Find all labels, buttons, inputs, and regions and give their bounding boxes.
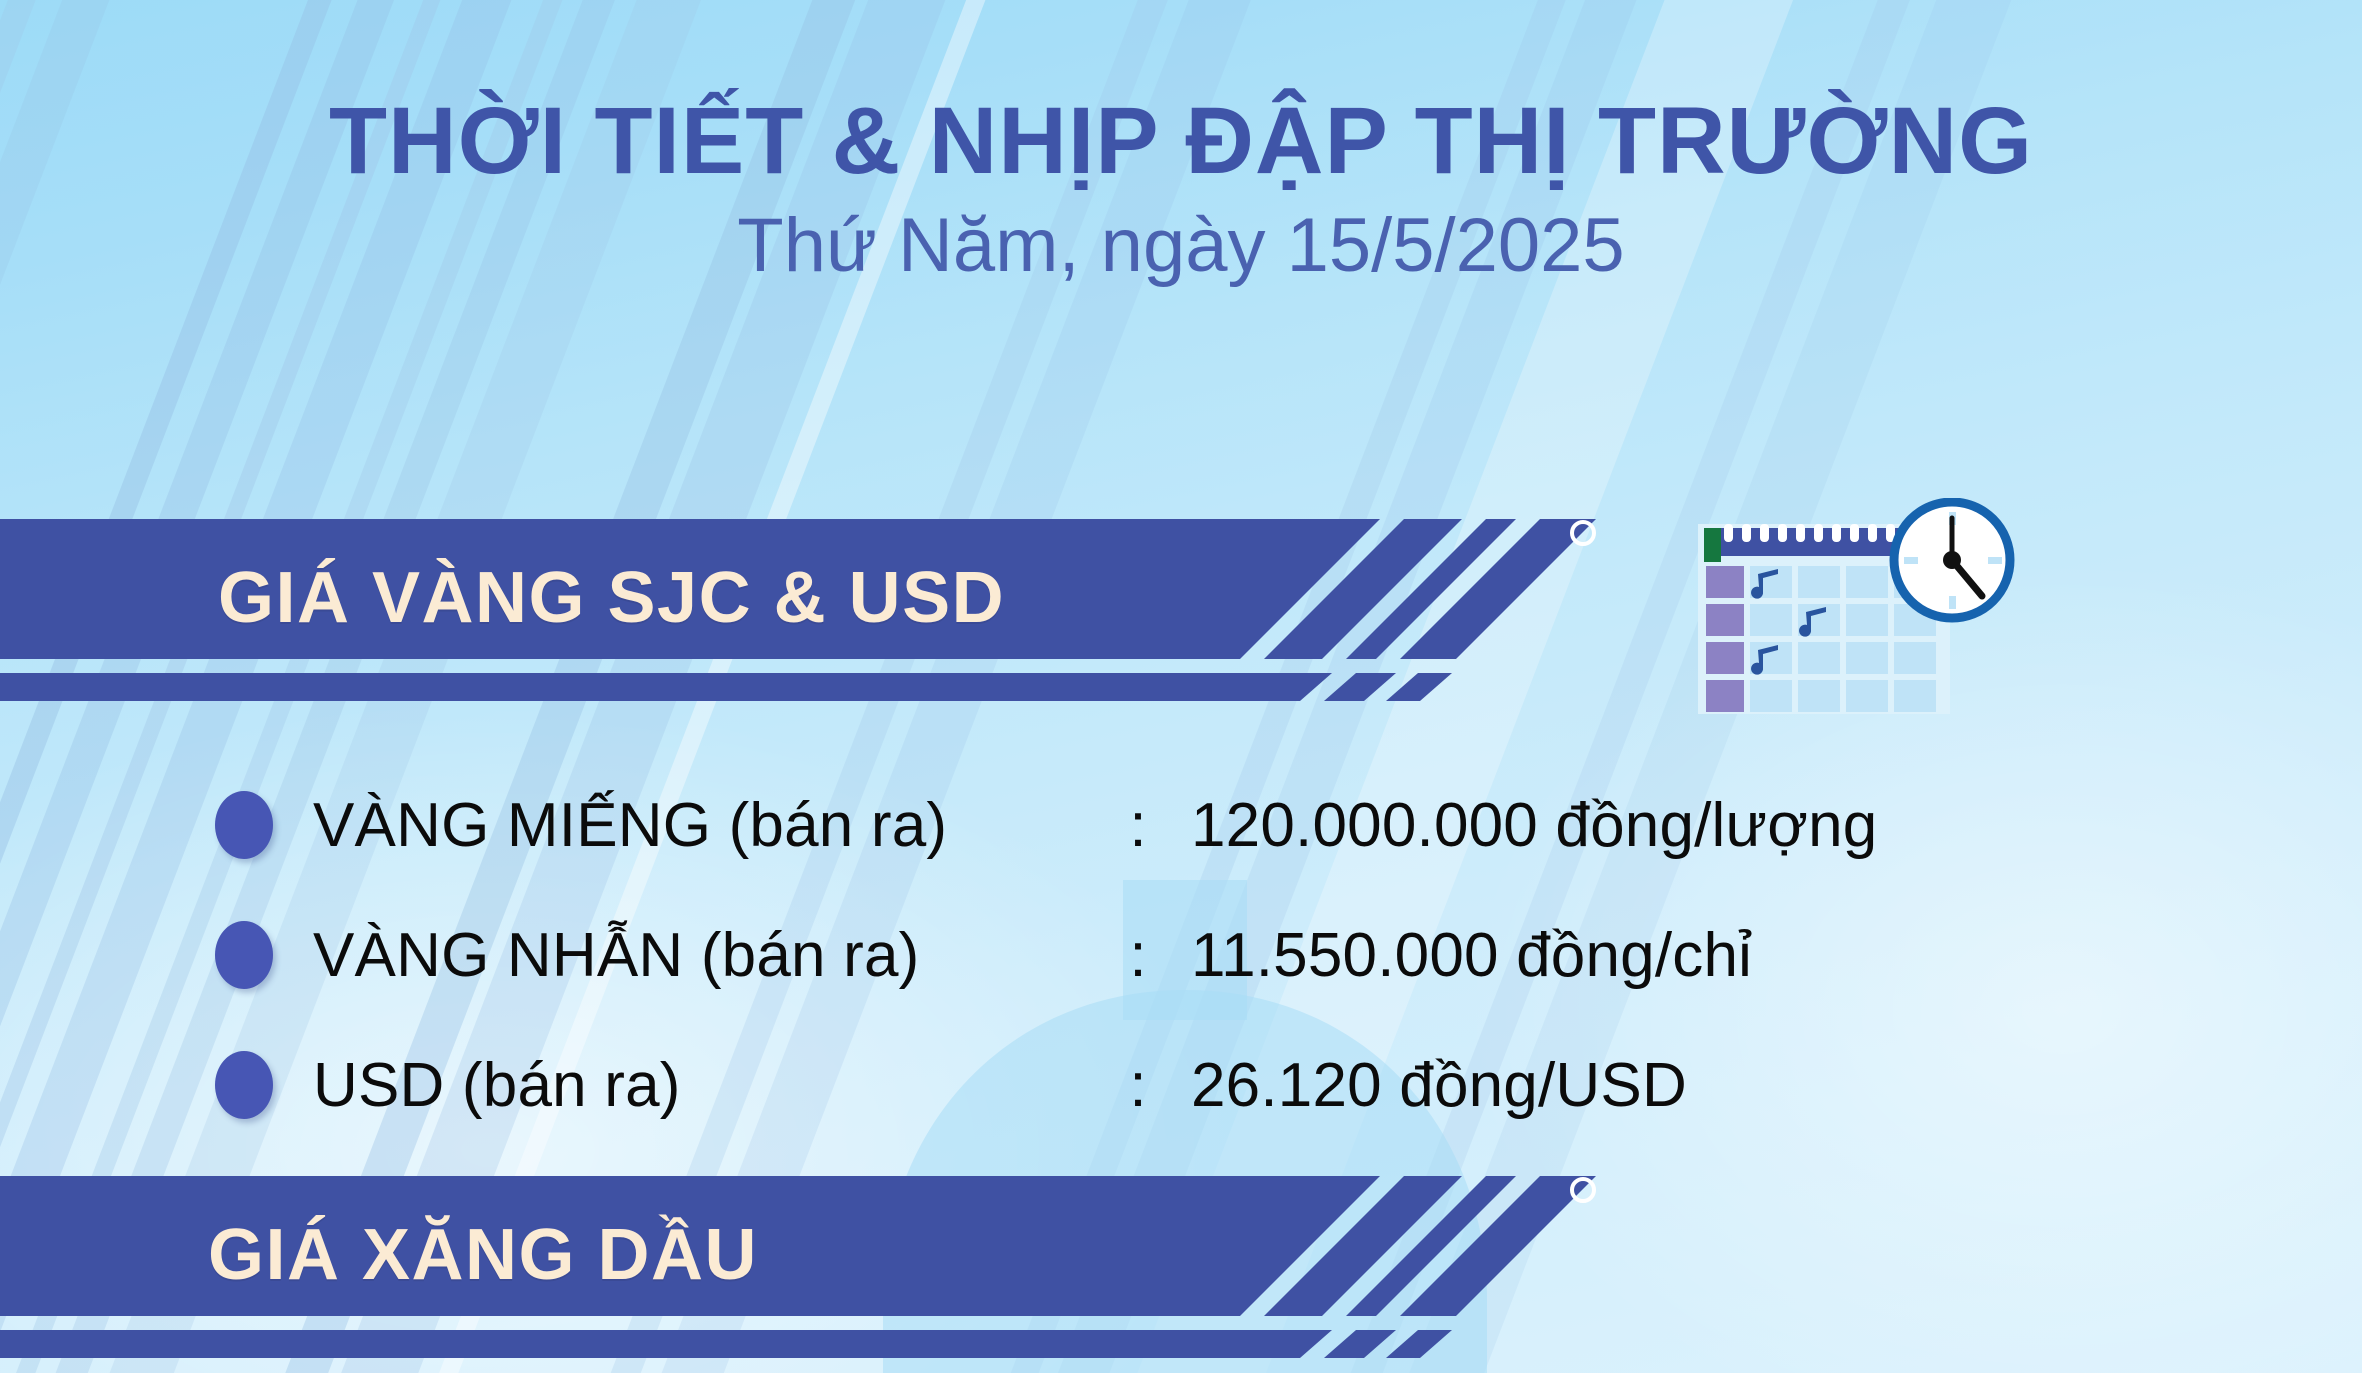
price-row-value: 120.000.000 đồng/lượng bbox=[1191, 790, 1877, 861]
bullet-dot-icon bbox=[215, 791, 273, 859]
price-row-separator: : bbox=[1113, 1050, 1163, 1121]
price-row-value: 11.550.000 đồng/chỉ bbox=[1191, 920, 1752, 991]
page-header: THỜI TIẾT & NHỊP ĐẬP THỊ TRƯỜNG Thứ Năm,… bbox=[0, 92, 2362, 287]
price-row[interactable]: VÀNG MIẾNG (bán ra) : 120.000.000 đồng/l… bbox=[215, 760, 2115, 890]
infographic-canvas: THỜI TIẾT & NHỊP ĐẬP THỊ TRƯỜNG Thứ Năm,… bbox=[0, 0, 2362, 1373]
price-row-separator: : bbox=[1113, 790, 1163, 861]
banner-label-fuel: GIÁ XĂNG DẦU bbox=[208, 1214, 758, 1296]
bullet-dot-icon bbox=[215, 921, 273, 989]
price-row-label: VÀNG NHẪN (bán ra) bbox=[313, 920, 1113, 991]
price-row[interactable]: USD (bán ra) : 26.120 đồng/USD bbox=[215, 1020, 2115, 1150]
price-row-separator: : bbox=[1113, 920, 1163, 991]
calendar-green-tab bbox=[1704, 528, 1721, 562]
page-subtitle-date: Thứ Năm, ngày 15/5/2025 bbox=[0, 204, 2362, 288]
price-row-value: 26.120 đồng/USD bbox=[1191, 1050, 1687, 1121]
price-row-label: VÀNG MIẾNG (bán ra) bbox=[313, 790, 1113, 861]
price-row[interactable]: VÀNG NHẪN (bán ra) : 11.550.000 đồng/chỉ bbox=[215, 890, 2115, 1020]
page-title: THỜI TIẾT & NHỊP ĐẬP THỊ TRƯỜNG bbox=[0, 92, 2362, 192]
section-banner-gold[interactable]: GIÁ VÀNG SJC & USD bbox=[0, 515, 1620, 705]
banner-label-gold: GIÁ VÀNG SJC & USD bbox=[218, 557, 1005, 639]
bullet-dot-icon bbox=[215, 1051, 273, 1119]
clock-icon bbox=[1894, 502, 2010, 618]
section-banner-fuel[interactable]: GIÁ XĂNG DẦU bbox=[0, 1172, 1620, 1362]
calendar-clock-illustration bbox=[1686, 498, 2036, 748]
gold-price-list: VÀNG MIẾNG (bán ra) : 120.000.000 đồng/l… bbox=[215, 760, 2115, 1150]
price-row-label: USD (bán ra) bbox=[313, 1050, 1113, 1121]
